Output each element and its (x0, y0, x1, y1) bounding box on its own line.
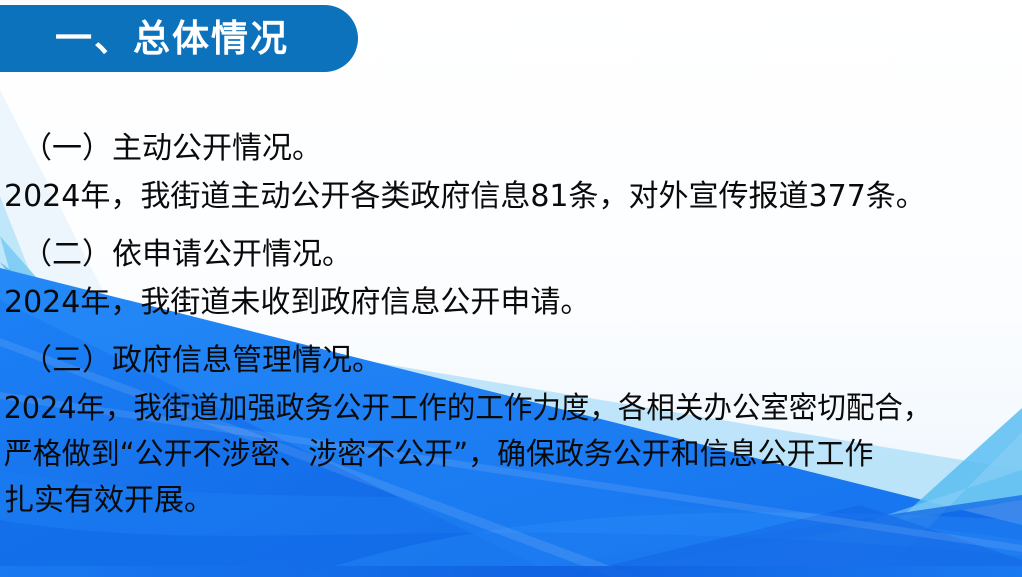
section-heading: （三）政府信息管理情况。 (0, 338, 1022, 384)
slide-body: （一）主动公开情况。 2024年，我街道主动公开各类政府信息81条，对外宣传报道… (0, 126, 1022, 524)
section-spacer (0, 326, 1022, 338)
section-heading: （一）主动公开情况。 (0, 126, 1022, 172)
page-title: 一、总体情况 (55, 5, 355, 72)
presentation-slide: 一、总体情况 （一）主动公开情况。 2024年，我街道主动公开各类政府信息81条… (0, 0, 1022, 577)
section-heading: （二）依申请公开情况。 (0, 232, 1022, 278)
section-paragraph-line: 严格做到“公开不涉密、涉密不公开”，确保政务公开和信息公开工作 (0, 432, 986, 478)
section-spacer (0, 220, 1022, 232)
section-paragraph-line: 2024年，我街道未收到政府信息公开申请。 (0, 280, 1022, 326)
section-paragraph-line: 2024年，我街道加强政务公开工作的工作力度，各相关办公室密切配合， (0, 386, 971, 432)
section-paragraph-line: 扎实有效开展。 (0, 478, 1022, 524)
section-paragraph-line: 2024年，我街道主动公开各类政府信息81条，对外宣传报道377条。 (0, 174, 1022, 220)
